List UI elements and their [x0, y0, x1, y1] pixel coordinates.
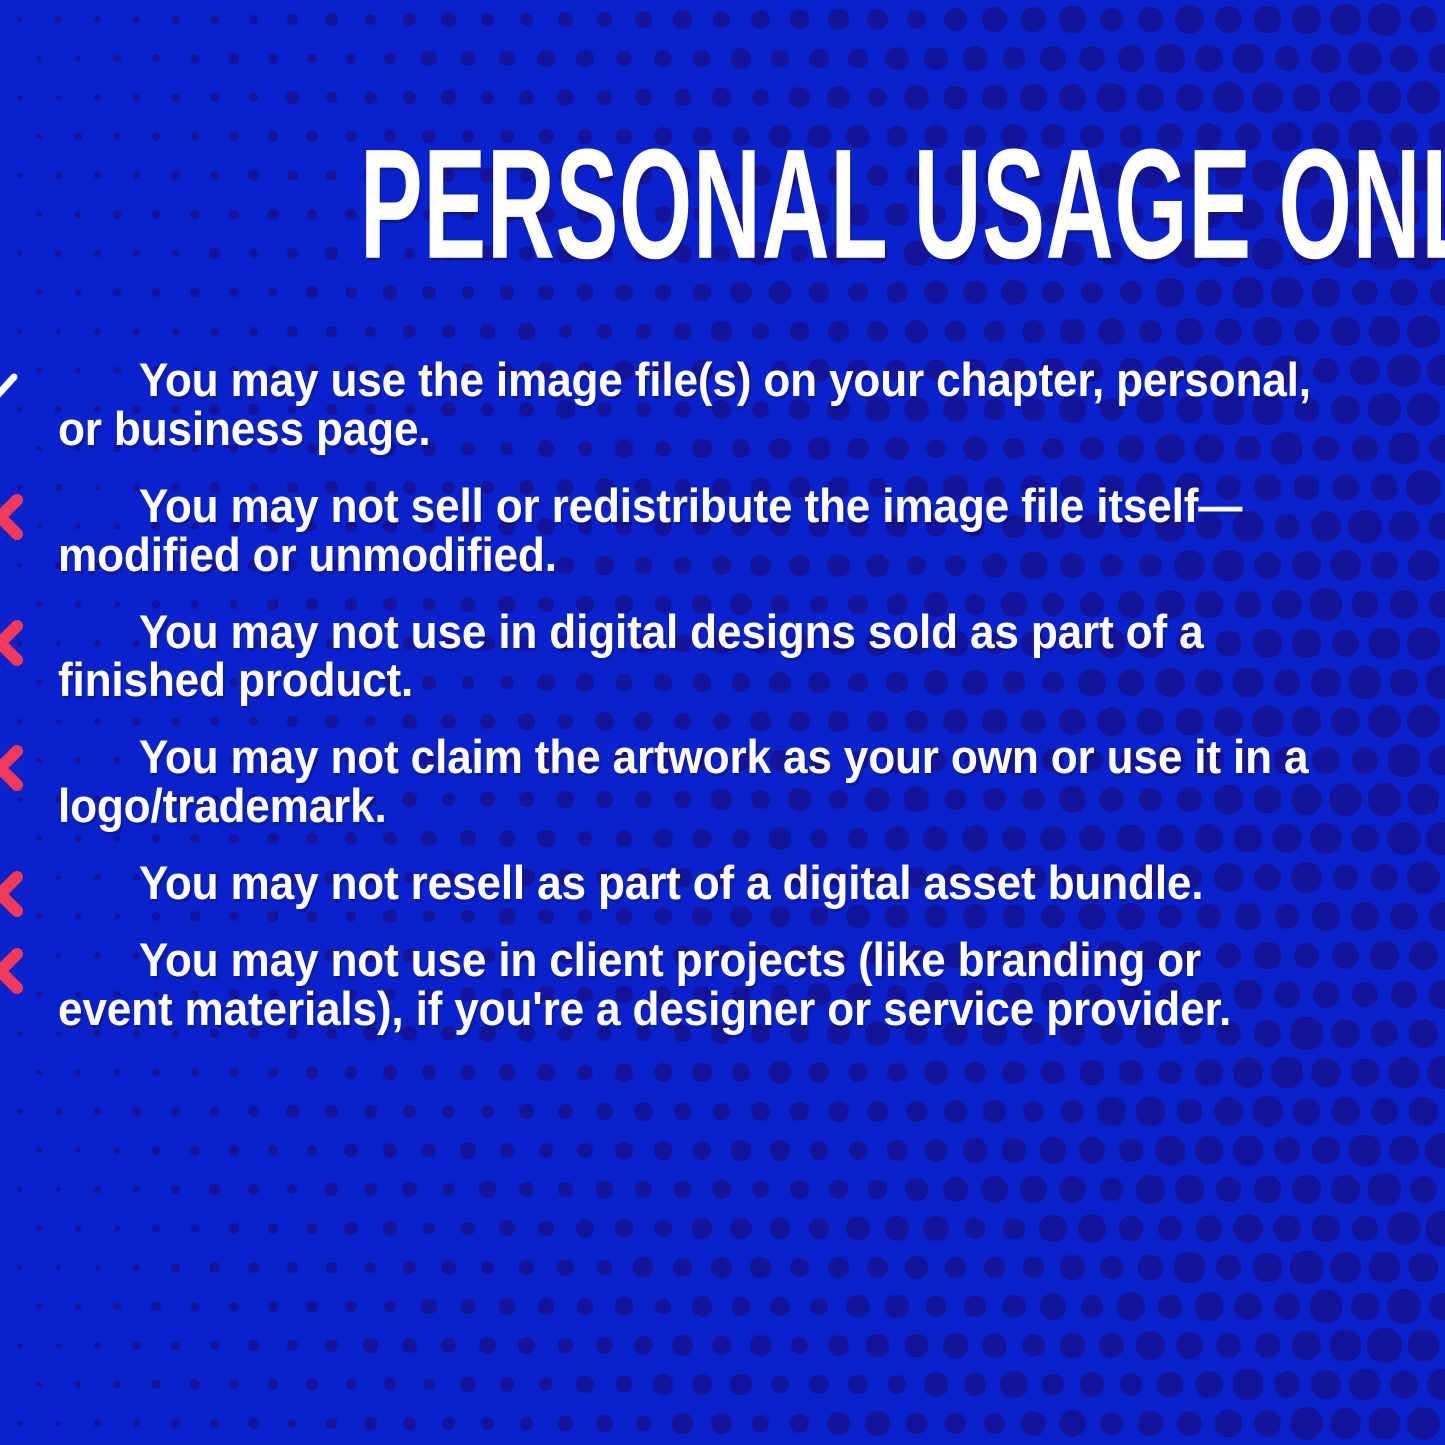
cross-mark-icon	[0, 608, 28, 664]
usage-rule-text: You may not claim the artwork as your ow…	[58, 733, 1318, 831]
usage-rule-item: You may not resell as part of a digital …	[58, 859, 1398, 908]
cross-mark-icon	[0, 859, 28, 915]
usage-rule-item: You may not use in client projects (like…	[58, 936, 1398, 1034]
page-title: PERSONAL USAGE ONLY	[0, 128, 1445, 277]
cross-mark-icon	[0, 482, 28, 538]
usage-rule-text: You may not resell as part of a digital …	[58, 859, 1318, 908]
usage-rule-text: You may use the image file(s) on your ch…	[58, 356, 1318, 454]
page-title-text: PERSONAL USAGE ONLY	[360, 128, 1445, 281]
usage-rule-text: You may not use in client projects (like…	[58, 936, 1318, 1034]
usage-rules-list: You may use the image file(s) on your ch…	[58, 356, 1398, 1062]
usage-rule-item: You may not claim the artwork as your ow…	[58, 733, 1398, 831]
usage-rule-text: You may not use in digital designs sold …	[58, 608, 1318, 706]
usage-rule-item: You may use the image file(s) on your ch…	[58, 356, 1398, 454]
usage-rule-item: You may not sell or redistribute the ima…	[58, 482, 1398, 580]
usage-rule-item: You may not use in digital designs sold …	[58, 608, 1398, 706]
cross-mark-icon	[0, 733, 28, 789]
cross-mark-icon	[0, 936, 28, 992]
usage-terms-graphic: PERSONAL USAGE ONLY You may use the imag…	[0, 0, 1445, 1445]
usage-rule-text: You may not sell or redistribute the ima…	[58, 482, 1318, 580]
white-check-mark-icon	[0, 356, 28, 412]
